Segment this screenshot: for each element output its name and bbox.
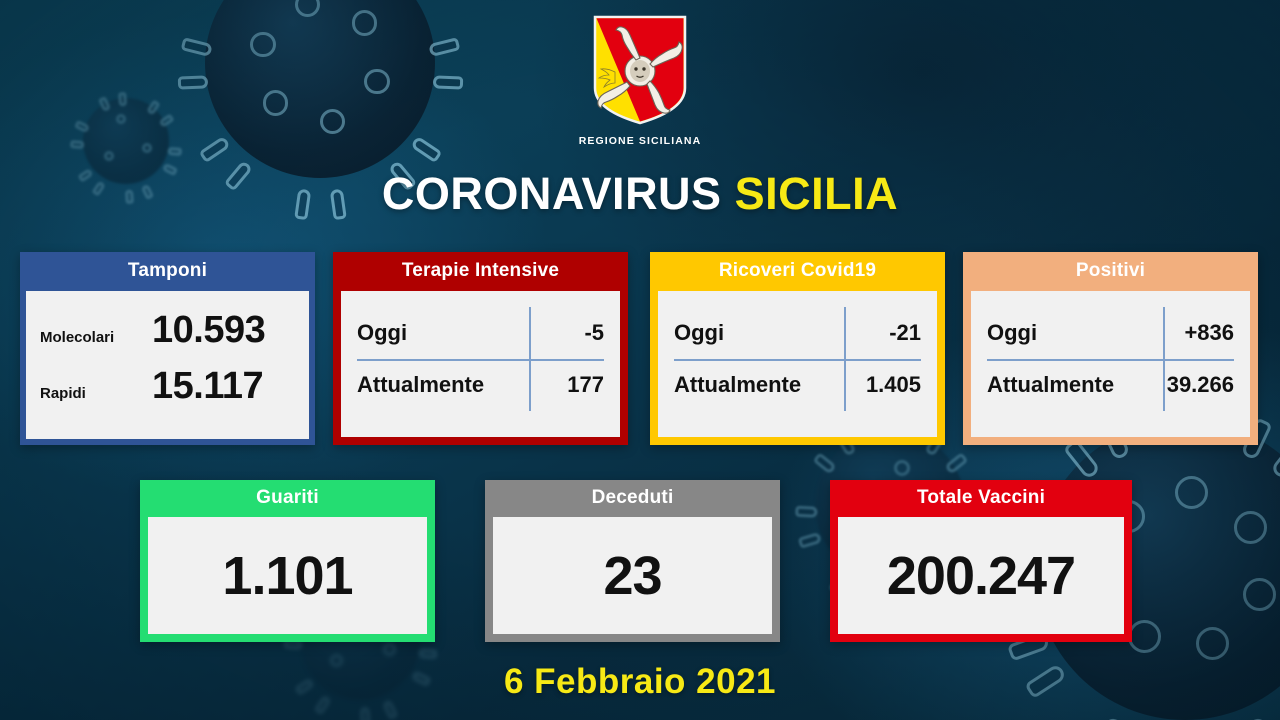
card-terapie-intensive-body: Oggi -5 Attualmente 177	[341, 291, 620, 437]
row-value: 15.117	[152, 365, 263, 408]
card-positivi: Positivi Oggi +836 Attualmente 39.266	[963, 252, 1258, 445]
row-label: Attualmente	[674, 372, 825, 398]
report-date: 6 Febbraio 2021	[0, 662, 1280, 702]
table-row: Rapidi 15.117	[40, 365, 295, 421]
card-ricoveri-covid19-title: Ricoveri Covid19	[650, 252, 945, 291]
card-positivi-title: Positivi	[963, 252, 1258, 291]
row-label: Oggi	[987, 320, 1134, 346]
card-ricoveri-covid19-body: Oggi -21 Attualmente 1.405	[658, 291, 937, 437]
column-divider	[844, 307, 846, 411]
page-title-accent: SICILIA	[735, 168, 899, 219]
table-row: Molecolari 10.593	[40, 309, 295, 365]
row-label: Attualmente	[987, 372, 1134, 398]
row-divider	[987, 359, 1234, 361]
card-guariti: Guariti 1.101	[140, 480, 435, 642]
row-value: 1.405	[825, 372, 921, 398]
row-value: 177	[518, 372, 604, 398]
card-totale-vaccini-title: Totale Vaccini	[830, 480, 1132, 517]
row-divider	[674, 359, 921, 361]
card-guariti-value: 1.101	[222, 545, 352, 607]
card-totale-vaccini: Totale Vaccini 200.247	[830, 480, 1132, 642]
row-value: 10.593	[152, 309, 265, 352]
card-guariti-body: 1.101	[148, 517, 427, 634]
table-row: Oggi +836	[987, 307, 1234, 359]
card-tamponi-title: Tamponi	[20, 252, 315, 291]
row-value: -21	[825, 320, 921, 346]
card-deceduti-title: Deceduti	[485, 480, 780, 517]
card-deceduti: Deceduti 23	[485, 480, 780, 642]
table-row: Attualmente 1.405	[674, 359, 921, 411]
page-title: CORONAVIRUS SICILIA	[0, 168, 1280, 220]
card-ricoveri-covid19: Ricoveri Covid19 Oggi -21 Attualmente 1.…	[650, 252, 945, 445]
column-divider	[1163, 307, 1165, 411]
card-tamponi: Tamponi Molecolari 10.593 Rapidi 15.117	[20, 252, 315, 445]
row-value: -5	[518, 320, 604, 346]
row-divider	[357, 359, 604, 361]
card-totale-vaccini-value: 200.247	[887, 545, 1075, 607]
card-totale-vaccini-body: 200.247	[838, 517, 1124, 634]
row-label: Rapidi	[40, 385, 152, 402]
column-divider	[529, 307, 531, 411]
card-positivi-body: Oggi +836 Attualmente 39.266	[971, 291, 1250, 437]
card-terapie-intensive: Terapie Intensive Oggi -5 Attualmente 17…	[333, 252, 628, 445]
row-value: 39.266	[1134, 372, 1234, 398]
row-label: Oggi	[674, 320, 825, 346]
card-terapie-intensive-title: Terapie Intensive	[333, 252, 628, 291]
table-row: Attualmente 39.266	[987, 359, 1234, 411]
table-row: Attualmente 177	[357, 359, 604, 411]
card-guariti-title: Guariti	[140, 480, 435, 517]
card-deceduti-body: 23	[493, 517, 772, 634]
row-label: Oggi	[357, 320, 518, 346]
page-title-main: CORONAVIRUS	[382, 168, 722, 219]
table-row: Oggi -5	[357, 307, 604, 359]
card-tamponi-body: Molecolari 10.593 Rapidi 15.117	[26, 291, 309, 439]
region-label: REGIONE SICILIANA	[0, 135, 1280, 147]
row-value: +836	[1134, 320, 1234, 346]
table-row: Oggi -21	[674, 307, 921, 359]
row-label: Attualmente	[357, 372, 518, 398]
card-deceduti-value: 23	[603, 545, 661, 607]
row-label: Molecolari	[40, 329, 152, 346]
region-logo: REGIONE SICILIANA	[0, 14, 1280, 147]
sicily-trinacria-coat-of-arms-icon	[591, 14, 689, 126]
